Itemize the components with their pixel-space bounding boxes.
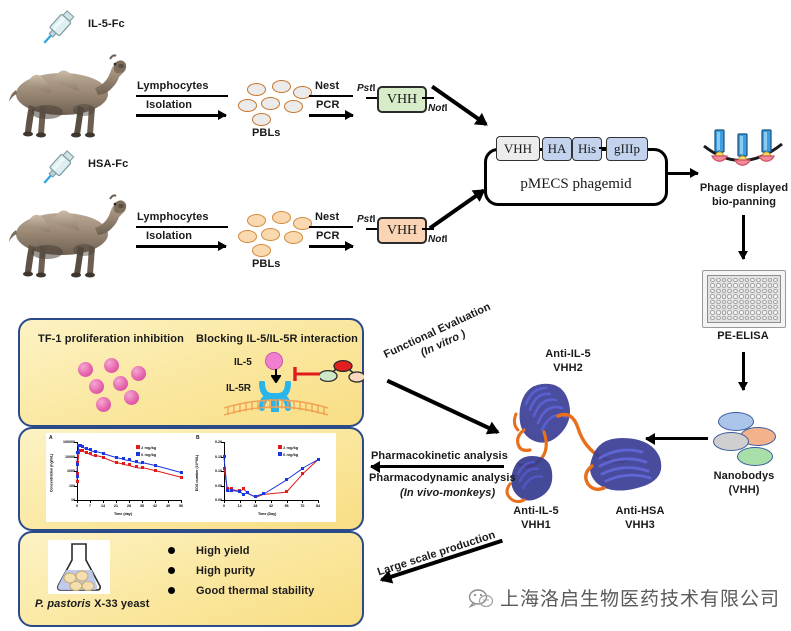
elisa-well bbox=[727, 305, 732, 309]
elisa-well bbox=[762, 283, 767, 287]
elisa-well bbox=[745, 316, 750, 320]
elisa-well bbox=[727, 316, 732, 320]
antigen-label-il5fc: IL-5-Fc bbox=[88, 18, 125, 32]
chart-x-tick-label: 84 bbox=[314, 504, 322, 508]
chart-data-point bbox=[154, 464, 157, 467]
elisa-well bbox=[750, 300, 755, 304]
elisa-well bbox=[768, 310, 773, 314]
chart-data-point bbox=[89, 452, 92, 455]
elisa-well bbox=[756, 300, 761, 304]
chart-data-point bbox=[262, 492, 265, 495]
chart-data-point bbox=[128, 463, 131, 466]
pbl-cell bbox=[238, 230, 257, 243]
pbl-cell bbox=[261, 228, 280, 241]
tf1-cell bbox=[131, 366, 146, 381]
chart-b-legend-item-2: 6 mg/kg bbox=[278, 452, 298, 457]
chart-b-legend: 2 mg/kg 6 mg/kg bbox=[278, 445, 298, 457]
pbl-cell bbox=[284, 231, 303, 244]
nest-label-2: Nest bbox=[315, 211, 339, 225]
isolation-label-1: Isolation bbox=[146, 99, 192, 113]
chart-data-point bbox=[81, 449, 84, 452]
elisa-well bbox=[739, 300, 744, 304]
il5-ligand-label: IL-5 bbox=[234, 357, 252, 369]
arrow-rule-2 bbox=[309, 95, 353, 97]
pbl-cell bbox=[293, 217, 312, 230]
structure-name-line1: Anti-HSA bbox=[600, 505, 680, 519]
chart-canvas: A Concentration (ng/mL) Time (day) 10100… bbox=[46, 433, 336, 522]
elisa-well bbox=[768, 283, 773, 287]
elisa-well bbox=[768, 316, 773, 320]
chart-x-tick-label: 14 bbox=[236, 504, 244, 508]
chart-x-tick bbox=[271, 500, 272, 503]
elisa-well bbox=[722, 294, 727, 298]
not-text: Not bbox=[428, 103, 445, 114]
elisa-well bbox=[733, 305, 738, 309]
elisa-well bbox=[716, 305, 721, 309]
elisa-well bbox=[768, 294, 773, 298]
large-scale-production-label: Large scale production bbox=[376, 529, 497, 580]
elisa-well bbox=[733, 294, 738, 298]
elisa-plate bbox=[702, 270, 786, 328]
arrow-rule-4 bbox=[309, 226, 353, 228]
chart-data-point bbox=[122, 462, 125, 465]
isolation-label-2: Isolation bbox=[146, 230, 192, 244]
elisa-well bbox=[722, 316, 727, 320]
phagemid-title: pMECS phagemid bbox=[487, 176, 665, 193]
lymphocytes-isolation-label-2: Lymphocytes bbox=[137, 211, 209, 225]
pbl-cell bbox=[247, 83, 266, 96]
chart-x-tick-label: 56 bbox=[283, 504, 291, 508]
chart-y-tick-label: 0.15 bbox=[202, 455, 222, 459]
elisa-well bbox=[710, 289, 715, 293]
chart-x-tick bbox=[142, 500, 143, 503]
pst-num: I bbox=[373, 214, 376, 225]
chart-a-plot-area: 101001000100001000000714212835424956 bbox=[77, 442, 181, 500]
elisa-well bbox=[710, 294, 715, 298]
chart-x-tick-label: 0 bbox=[73, 504, 81, 508]
chart-data-point bbox=[230, 489, 233, 492]
functional-evaluation-arrow bbox=[386, 379, 498, 434]
lymphocytes-isolation-label-1: Lymphocytes bbox=[137, 80, 209, 94]
elisa-well bbox=[768, 305, 773, 309]
membrane-bilayer-icon bbox=[222, 396, 330, 423]
chart-data-point bbox=[226, 489, 229, 492]
chart-y-tick-label: 100000 bbox=[55, 440, 75, 444]
pst-num: I bbox=[373, 83, 376, 94]
restriction-site-not-1: NotI bbox=[428, 103, 447, 114]
chart-data-point bbox=[135, 460, 138, 463]
elisa-well bbox=[762, 289, 767, 293]
structure-name-line1: Anti-IL-5 bbox=[528, 348, 608, 362]
production-bullet-label-1: High yield bbox=[196, 545, 250, 559]
production-bullet-label-3: Good thermal stability bbox=[196, 585, 314, 599]
elisa-well bbox=[773, 283, 778, 287]
chart-y-tick-label: 0.10 bbox=[202, 469, 222, 473]
phagemid-tag-his: His bbox=[572, 137, 602, 161]
chart-data-point bbox=[81, 445, 84, 448]
chart-x-tick-label: 70 bbox=[298, 504, 306, 508]
trivalent-nanobody-icon bbox=[320, 358, 364, 393]
chart-x-tick bbox=[155, 500, 156, 503]
elisa-well bbox=[750, 305, 755, 309]
structure-name-line2: VHH3 bbox=[600, 519, 680, 533]
panning-label-line1: Phage displayed bbox=[697, 182, 791, 196]
chart-data-point bbox=[135, 465, 138, 468]
chart-y-tick-label: 0.20 bbox=[202, 440, 222, 444]
arrow-panning-to-elisa bbox=[742, 215, 745, 259]
pbl-cell bbox=[261, 97, 280, 110]
chart-x-tick-label: 0 bbox=[220, 504, 228, 508]
elisa-well bbox=[710, 283, 715, 287]
chart-a-xlabel: Time (day) bbox=[114, 512, 132, 516]
chart-series-segment bbox=[224, 457, 228, 491]
chart-x-tick-label: 21 bbox=[112, 504, 120, 508]
chart-data-point bbox=[285, 490, 288, 493]
tf1-cell bbox=[78, 362, 93, 377]
chart-data-point bbox=[246, 491, 249, 494]
pharmacokinetic-label: Pharmacokinetic analysis bbox=[371, 450, 508, 464]
chart-data-point bbox=[301, 467, 304, 470]
elisa-well bbox=[773, 305, 778, 309]
phagemid-tag-ha: HA bbox=[542, 137, 572, 161]
chart-data-point bbox=[141, 466, 144, 469]
elisa-well bbox=[756, 310, 761, 314]
chart-b-plot-area: 0.000.050.100.150.200142842567084 bbox=[224, 442, 318, 500]
yeast-flask-image bbox=[48, 540, 110, 594]
elisa-well bbox=[727, 289, 732, 293]
pbl-cell bbox=[247, 214, 266, 227]
chart-x-tick-label: 35 bbox=[138, 504, 146, 508]
elisa-well bbox=[739, 283, 744, 287]
pst-text: Pst bbox=[357, 83, 373, 94]
in-vivo-monkeys-label: (In vivo-monkeys) bbox=[400, 487, 495, 501]
elisa-well bbox=[762, 310, 767, 314]
chart-data-point bbox=[285, 478, 288, 481]
wechat-icon bbox=[468, 588, 494, 615]
elisa-well bbox=[739, 278, 744, 282]
elisa-well bbox=[716, 289, 721, 293]
functional-evaluation-label: Functional Evaluation (In vitro ) bbox=[382, 301, 499, 375]
chart-data-point bbox=[301, 472, 304, 475]
tf1-cell bbox=[113, 376, 128, 391]
elisa-plate-wells bbox=[707, 275, 781, 323]
chart-data-point bbox=[223, 455, 226, 458]
chart-x-tick bbox=[90, 500, 91, 503]
chart-data-point bbox=[254, 495, 257, 498]
pcr-label-2: PCR bbox=[316, 230, 340, 244]
elisa-well bbox=[716, 300, 721, 304]
chart-data-point bbox=[85, 451, 88, 454]
chart-data-point bbox=[128, 458, 131, 461]
elisa-well bbox=[773, 316, 778, 320]
chart-x-tick-label: 49 bbox=[164, 504, 172, 508]
chart-y-tick-label: 100 bbox=[55, 484, 75, 488]
chart-data-point bbox=[76, 451, 79, 454]
step-line1: Lymphocytes bbox=[137, 80, 209, 92]
camel-illustration-2 bbox=[2, 182, 134, 282]
pbls-label-1: PBLs bbox=[252, 127, 281, 141]
elisa-well bbox=[750, 289, 755, 293]
pharmacodynamic-label: Pharmacodynamic analysis bbox=[369, 472, 516, 486]
chart-x-tick-label: 7 bbox=[86, 504, 94, 508]
pbl-cell bbox=[284, 100, 303, 113]
restriction-site-pst-1: PstI bbox=[357, 83, 375, 94]
chart-x-tick bbox=[224, 500, 225, 503]
elisa-well bbox=[773, 310, 778, 314]
chart-b-xlabel: Time (Day) bbox=[258, 512, 276, 516]
elisa-well bbox=[739, 305, 744, 309]
elisa-label: PE-ELISA bbox=[702, 330, 784, 344]
elisa-well bbox=[727, 310, 732, 314]
elisa-well bbox=[722, 278, 727, 282]
phage-panning-illustration bbox=[700, 128, 786, 181]
elisa-well bbox=[756, 283, 761, 287]
arrow-rule-3 bbox=[136, 226, 228, 228]
chart-data-point bbox=[85, 447, 88, 450]
elisa-well bbox=[762, 316, 767, 320]
elisa-well bbox=[710, 278, 715, 282]
il5-ligand-icon bbox=[265, 352, 283, 370]
elisa-well bbox=[739, 294, 744, 298]
elisa-well bbox=[733, 289, 738, 293]
elisa-well bbox=[756, 294, 761, 298]
not-num: I bbox=[445, 103, 448, 114]
elisa-well bbox=[733, 310, 738, 314]
chart-a-panel-letter: A bbox=[49, 435, 53, 441]
chart-data-point bbox=[180, 471, 183, 474]
elisa-well bbox=[722, 289, 727, 293]
elisa-well bbox=[762, 278, 767, 282]
tf1-proliferation-title: TF-1 proliferation inhibition bbox=[38, 333, 184, 347]
elisa-well bbox=[733, 278, 738, 282]
chart-data-point bbox=[122, 457, 125, 460]
chart-y-tick-label: 1000 bbox=[55, 469, 75, 473]
production-bullet-1 bbox=[168, 547, 175, 554]
elisa-well bbox=[745, 294, 750, 298]
not-num: I bbox=[445, 234, 448, 245]
structure-name-line2: VHH2 bbox=[528, 362, 608, 376]
nanobodies-label-line2: (VHH) bbox=[697, 484, 791, 498]
pcr-label-1: PCR bbox=[316, 99, 340, 113]
restriction-site-pst-2: PstI bbox=[357, 214, 375, 225]
chart-x-tick bbox=[287, 500, 288, 503]
structure-label-vhh1: Anti-IL-5 VHH1 bbox=[498, 505, 574, 533]
chart-y-tick-label: 10 bbox=[55, 498, 75, 502]
chart-data-point bbox=[242, 493, 245, 496]
pst-text: Pst bbox=[357, 214, 373, 225]
isolation-arrow-1 bbox=[136, 114, 226, 117]
chart-x-tick bbox=[318, 500, 319, 503]
elisa-well bbox=[716, 316, 721, 320]
chart-y-tick-label: 0.00 bbox=[202, 498, 222, 502]
phagemid-tag-vhh: VHH bbox=[496, 136, 540, 161]
elisa-well bbox=[710, 300, 715, 304]
tag-label: HA bbox=[548, 141, 567, 157]
chart-data-point bbox=[76, 475, 79, 478]
elisa-well bbox=[762, 305, 767, 309]
arrow-phagemid-to-panning bbox=[666, 172, 698, 175]
il5r-receptor-label: IL-5R bbox=[226, 383, 251, 395]
elisa-well bbox=[745, 305, 750, 309]
nanobodies-label: Nanobodys (VHH) bbox=[697, 470, 791, 498]
chart-data-point bbox=[89, 448, 92, 451]
pbl-cell bbox=[252, 244, 271, 257]
elisa-well bbox=[710, 316, 715, 320]
structure-name-line2: VHH1 bbox=[498, 519, 574, 533]
chart-data-point bbox=[242, 487, 245, 490]
elisa-well bbox=[716, 310, 721, 314]
tf1-cell bbox=[89, 379, 104, 394]
elisa-well bbox=[745, 283, 750, 287]
elisa-well bbox=[768, 289, 773, 293]
pbl-cell bbox=[272, 211, 291, 224]
pbl-cell bbox=[293, 86, 312, 99]
phagemid-tag-giiip: gIIIp bbox=[606, 137, 648, 161]
elisa-well bbox=[773, 300, 778, 304]
chart-y-tick-label: 0.05 bbox=[202, 484, 222, 488]
tag-label: gIIIp bbox=[614, 141, 640, 157]
blocking-interaction-title: Blocking IL-5/IL-5R interaction bbox=[196, 333, 358, 347]
arrow-rule-1 bbox=[136, 95, 228, 97]
elisa-well bbox=[773, 289, 778, 293]
elisa-well bbox=[750, 294, 755, 298]
chart-x-tick bbox=[181, 500, 182, 503]
pcr-arrow-1 bbox=[309, 114, 353, 117]
chart-x-tick-label: 42 bbox=[267, 504, 275, 508]
elisa-well bbox=[722, 300, 727, 304]
chart-x-tick bbox=[168, 500, 169, 503]
pbl-cell bbox=[238, 99, 257, 112]
production-bullet-3 bbox=[168, 587, 175, 594]
yeast-caption: P. pastoris X-33 yeast bbox=[35, 598, 150, 612]
chart-data-point bbox=[154, 469, 157, 472]
chart-data-point bbox=[94, 454, 97, 457]
gene-line-right-1 bbox=[422, 97, 434, 99]
chart-a-legend: 2 mg/kg 6 mg/kg bbox=[136, 445, 156, 457]
elisa-well bbox=[716, 278, 721, 282]
elisa-well bbox=[750, 316, 755, 320]
chart-data-point bbox=[115, 461, 118, 464]
chart-x-tick bbox=[77, 500, 78, 503]
structure-name-line1: Anti-IL-5 bbox=[498, 505, 574, 519]
elisa-well bbox=[756, 316, 761, 320]
pbl-cell bbox=[272, 80, 291, 93]
chart-data-point bbox=[76, 463, 79, 466]
vhh-gene-label: VHH bbox=[387, 92, 417, 108]
chart-x-tick-label: 28 bbox=[125, 504, 133, 508]
elisa-well bbox=[722, 310, 727, 314]
elisa-well bbox=[733, 316, 738, 320]
elisa-well bbox=[762, 300, 767, 304]
elisa-well bbox=[773, 278, 778, 282]
restriction-site-not-2: NotI bbox=[428, 234, 447, 245]
elisa-well bbox=[756, 305, 761, 309]
trivalent-nanobody-structure bbox=[500, 370, 700, 525]
elisa-well bbox=[768, 278, 773, 282]
chart-a-ylabel: Concentration (ng/mL) bbox=[49, 454, 53, 493]
elisa-well bbox=[733, 283, 738, 287]
tf1-cell bbox=[104, 358, 119, 373]
pharmacokinetic-arrow bbox=[371, 465, 504, 468]
camel-illustration-1 bbox=[2, 42, 134, 142]
structure-label-vhh2: Anti-IL-5 VHH2 bbox=[528, 348, 608, 376]
chart-data-point bbox=[94, 450, 97, 453]
arrow-nanobodies-to-structure bbox=[646, 437, 708, 440]
chart-x-tick bbox=[129, 500, 130, 503]
pbls-label-2: PBLs bbox=[252, 258, 281, 272]
elisa-well bbox=[745, 278, 750, 282]
elisa-well bbox=[750, 283, 755, 287]
panning-label: Phage displayed bio-panning bbox=[697, 182, 791, 210]
elisa-well bbox=[722, 283, 727, 287]
structure-label-vhh3: Anti-HSA VHH3 bbox=[600, 505, 680, 533]
chart-data-point bbox=[102, 456, 105, 459]
elisa-well bbox=[716, 283, 721, 287]
chart-a-legend-item-2: 6 mg/kg bbox=[136, 452, 156, 457]
nanobody-ellipse-green bbox=[737, 447, 773, 466]
not-text: Not bbox=[428, 234, 445, 245]
nest-label-1: Nest bbox=[315, 80, 339, 94]
isolation-arrow-2 bbox=[136, 245, 226, 248]
chart-x-tick-label: 14 bbox=[99, 504, 107, 508]
pbl-cell bbox=[252, 113, 271, 126]
chart-data-point bbox=[317, 458, 320, 461]
chart-data-point bbox=[141, 461, 144, 464]
panning-label-line2: bio-panning bbox=[697, 196, 791, 210]
chart-y-tick-label: 10000 bbox=[55, 455, 75, 459]
tf1-cell bbox=[124, 390, 139, 405]
elisa-well bbox=[745, 310, 750, 314]
elisa-well bbox=[762, 294, 767, 298]
elisa-well bbox=[710, 305, 715, 309]
elisa-well bbox=[733, 300, 738, 304]
production-bullet-2 bbox=[168, 567, 175, 574]
elisa-well bbox=[745, 289, 750, 293]
chart-b-ylabel: EOS number (10^9/L) bbox=[195, 455, 199, 491]
elisa-well bbox=[727, 294, 732, 298]
elisa-well bbox=[727, 300, 732, 304]
chart-b-legend-item-1: 2 mg/kg bbox=[278, 445, 298, 450]
nanobodies-label-line1: Nanobodys bbox=[697, 470, 791, 484]
chart-x-tick bbox=[116, 500, 117, 503]
elisa-well bbox=[773, 294, 778, 298]
chart-data-point bbox=[180, 476, 183, 479]
production-bullet-label-2: High purity bbox=[196, 565, 255, 579]
chart-x-tick-label: 28 bbox=[251, 504, 259, 508]
elisa-well bbox=[722, 305, 727, 309]
tf1-cell bbox=[96, 397, 111, 412]
chart-x-tick-label: 42 bbox=[151, 504, 159, 508]
yeast-strain-text: X-33 yeast bbox=[91, 598, 150, 610]
chart-a-legend-item-1: 2 mg/kg bbox=[136, 445, 156, 450]
elisa-well bbox=[716, 294, 721, 298]
elisa-well bbox=[768, 300, 773, 304]
vhh-gene-box-1: VHH bbox=[377, 86, 427, 113]
chart-x-tick-label: 56 bbox=[177, 504, 185, 508]
elisa-well bbox=[756, 289, 761, 293]
chart-x-tick bbox=[103, 500, 104, 503]
elisa-well bbox=[750, 310, 755, 314]
diagonal-arrow-to-phagemid-bottom bbox=[429, 189, 485, 230]
vhh-gene-box-2: VHH bbox=[377, 217, 427, 244]
chart-x-tick bbox=[302, 500, 303, 503]
antigen-label-hsafc: HSA-Fc bbox=[88, 158, 128, 172]
elisa-well bbox=[739, 310, 744, 314]
chart-data-point bbox=[102, 452, 105, 455]
chart-data-point bbox=[76, 480, 79, 483]
elisa-well bbox=[750, 278, 755, 282]
elisa-well bbox=[710, 310, 715, 314]
